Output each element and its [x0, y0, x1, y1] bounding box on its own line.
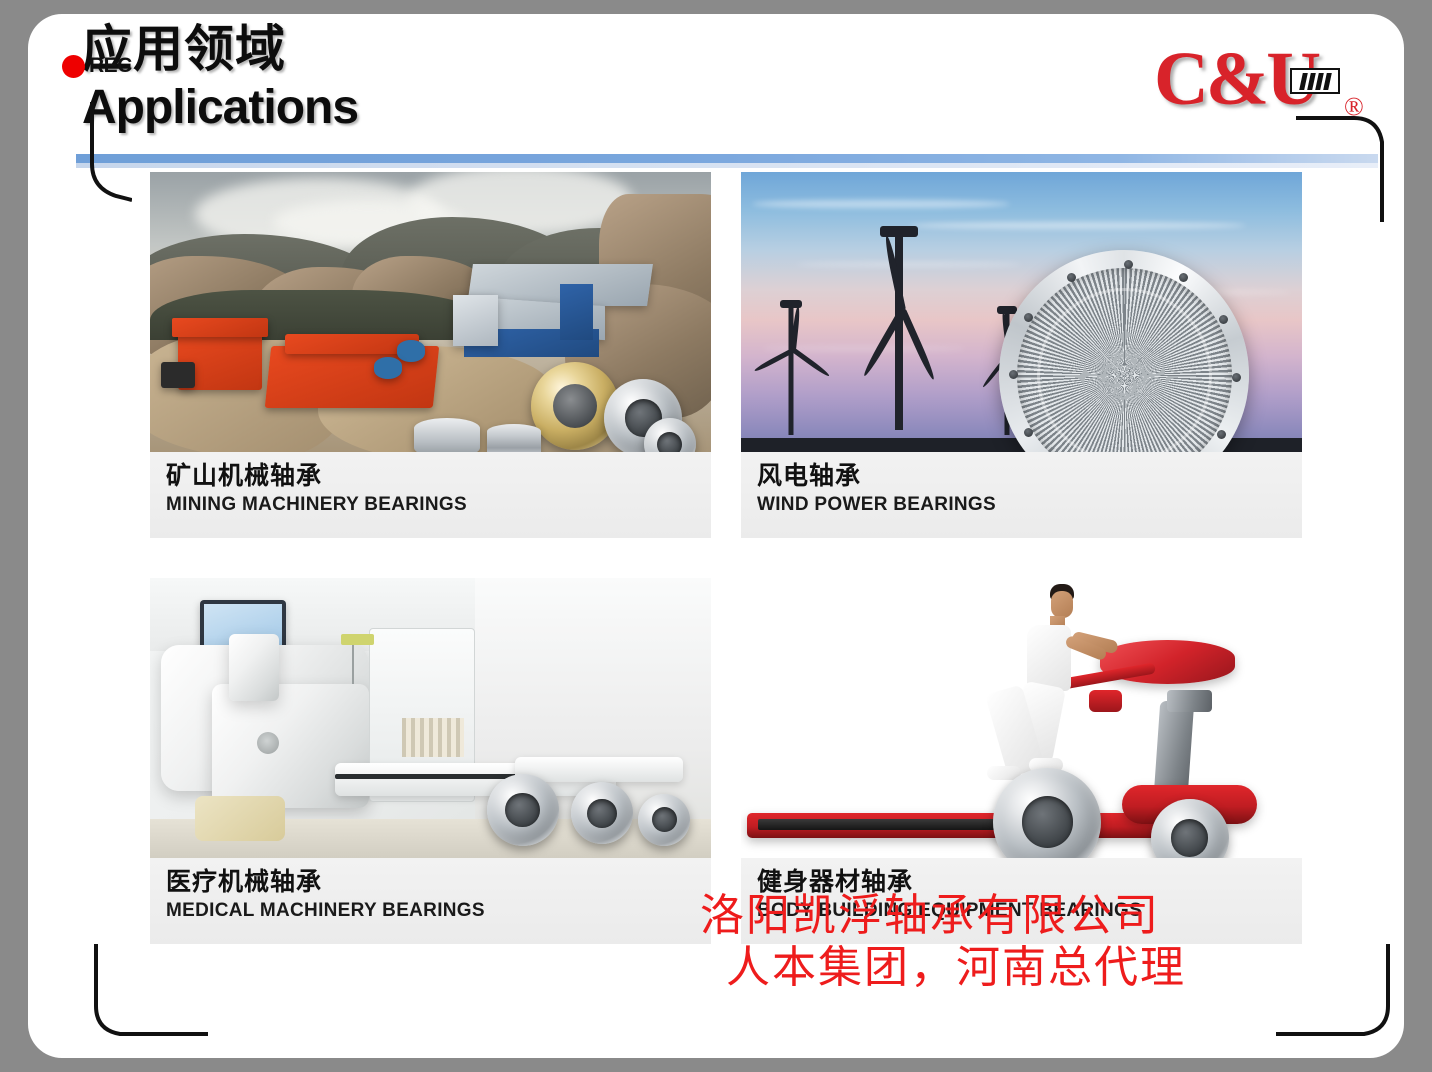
cu-logo-bars-icon — [1290, 68, 1340, 94]
registered-trademark-icon: ® — [1344, 92, 1364, 122]
header-divider-bar — [76, 154, 1378, 163]
mining-title-english: MINING MACHINERY BEARINGS — [166, 494, 695, 516]
application-card-body-building[interactable]: 健身器材轴承 BODY BUILDING EQUIPMENT BEARINGS — [741, 578, 1302, 972]
wind-power-title-chinese: 风电轴承 — [757, 462, 1286, 491]
body-building-title-chinese: 健身器材轴承 — [757, 868, 1286, 897]
wind-power-caption: 风电轴承 WIND POWER BEARINGS — [741, 452, 1302, 538]
record-label: REC — [89, 54, 132, 78]
screen-recording-indicator: REC — [62, 54, 132, 78]
body-building-image — [741, 578, 1302, 858]
body-building-caption: 健身器材轴承 BODY BUILDING EQUIPMENT BEARINGS — [741, 858, 1302, 944]
record-dot-icon — [62, 55, 85, 78]
mining-title-chinese: 矿山机械轴承 — [166, 462, 695, 491]
applications-grid: 矿山机械轴承 MINING MACHINERY BEARINGS — [150, 172, 1302, 972]
mining-caption: 矿山机械轴承 MINING MACHINERY BEARINGS — [150, 452, 711, 538]
medical-caption: 医疗机械轴承 MEDICAL MACHINERY BEARINGS — [150, 858, 711, 944]
medical-title-english: MEDICAL MACHINERY BEARINGS — [166, 900, 695, 922]
medical-scene — [150, 578, 711, 858]
application-card-mining[interactable]: 矿山机械轴承 MINING MACHINERY BEARINGS — [150, 172, 711, 566]
application-card-wind-power[interactable]: 风电轴承 WIND POWER BEARINGS — [741, 172, 1302, 566]
body-building-scene — [741, 578, 1302, 858]
application-card-medical[interactable]: 医疗机械轴承 MEDICAL MACHINERY BEARINGS — [150, 578, 711, 972]
mining-image — [150, 172, 711, 452]
slide-header: 应用领域 Applications C&U ® — [28, 14, 1404, 174]
medical-title-chinese: 医疗机械轴承 — [166, 868, 695, 897]
medical-image — [150, 578, 711, 858]
wind-power-image — [741, 172, 1302, 452]
header-divider-shadow — [76, 163, 1378, 168]
wind-power-title-english: WIND POWER BEARINGS — [757, 494, 1286, 516]
page-title-english: Applications — [82, 84, 358, 132]
mining-scene — [150, 172, 711, 452]
presentation-slide: 应用领域 Applications C&U ® — [28, 14, 1404, 1058]
body-building-title-english: BODY BUILDING EQUIPMENT BEARINGS — [757, 900, 1286, 922]
wind-power-scene — [741, 172, 1302, 452]
cu-logo: C&U ® — [1154, 44, 1374, 139]
